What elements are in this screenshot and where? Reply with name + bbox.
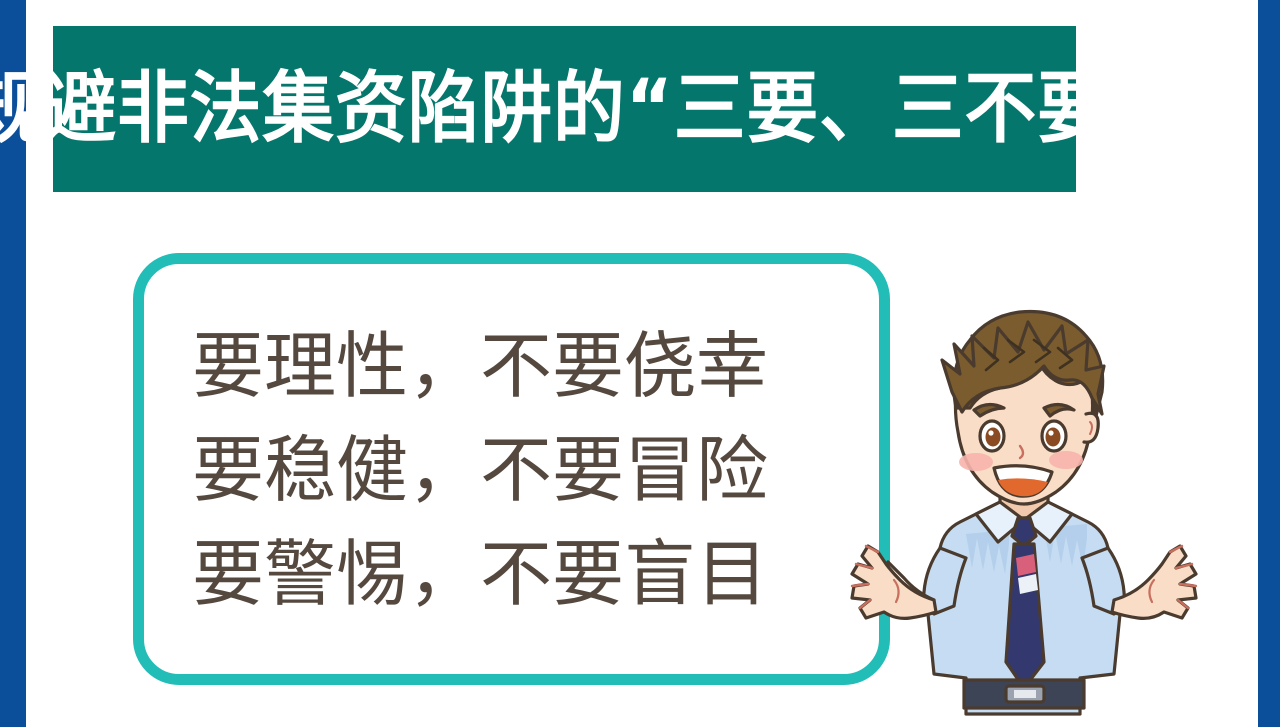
slogan-line-1: 要理性，不要侥幸 bbox=[192, 330, 768, 402]
title-banner: 规避非法集资陷阱的“三要、三不要” bbox=[53, 26, 1076, 192]
page-title: 规避非法集资陷阱的“三要、三不要” bbox=[0, 70, 1158, 148]
slogan-line-3: 要警惕，不要盲目 bbox=[192, 538, 768, 610]
right-accent-bar bbox=[1258, 0, 1280, 727]
poster-root: 规避非法集资陷阱的“三要、三不要” 要理性，不要侥幸 要稳健，不要冒险 要警惕，… bbox=[0, 0, 1280, 727]
slogan-list: 要理性，不要侥幸 要稳健，不要冒险 要警惕，不要盲目 bbox=[152, 262, 892, 678]
slogan-line-2: 要稳健，不要冒险 bbox=[192, 434, 768, 506]
cartoon-boy-illustration bbox=[848, 296, 1200, 720]
